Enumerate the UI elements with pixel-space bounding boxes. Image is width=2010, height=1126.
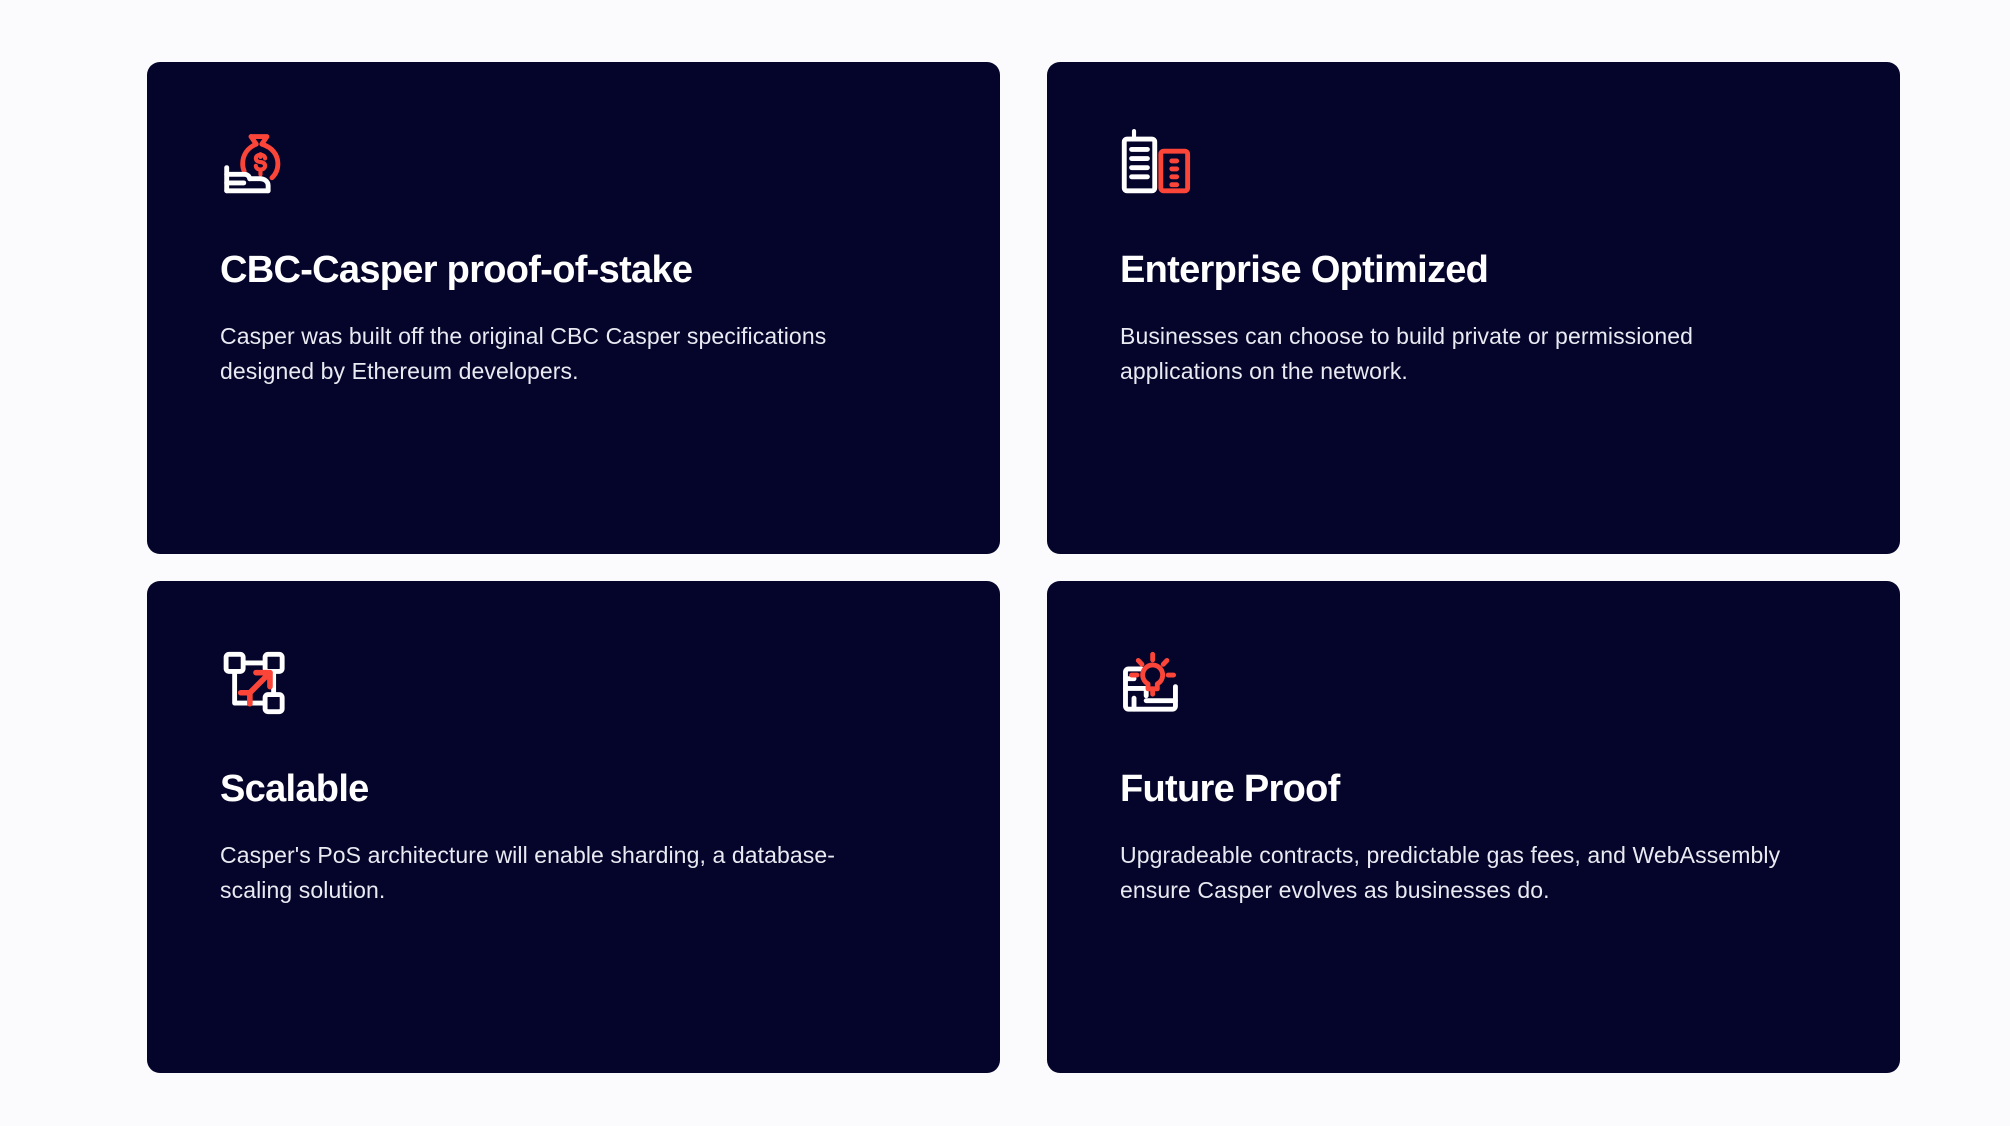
scale-resize-arrow-icon [220,644,927,724]
office-buildings-icon [1120,125,1827,205]
feature-card-future-proof[interactable]: Future Proof Upgradeable contracts, pred… [1047,581,1900,1073]
card-body: Casper's PoS architecture will enable sh… [220,838,900,909]
money-bag-icon [220,125,927,205]
card-body: Upgradeable contracts, predictable gas f… [1120,838,1800,909]
feature-card-cbc-casper[interactable]: CBC-Casper proof-of-stake Casper was bui… [147,62,1000,554]
blueprint-lightbulb-icon [1120,644,1827,724]
card-body: Casper was built off the original CBC Ca… [220,319,900,390]
card-body: Businesses can choose to build private o… [1120,319,1800,390]
feature-card-grid: CBC-Casper proof-of-stake Casper was bui… [147,62,1900,1073]
card-title: Enterprise Optimized [1120,249,1827,293]
card-title: Future Proof [1120,768,1827,812]
card-title: Scalable [220,768,927,812]
feature-card-scalable[interactable]: Scalable Casper's PoS architecture will … [147,581,1000,1073]
card-title: CBC-Casper proof-of-stake [220,249,927,293]
feature-card-enterprise-optimized[interactable]: Enterprise Optimized Businesses can choo… [1047,62,1900,554]
